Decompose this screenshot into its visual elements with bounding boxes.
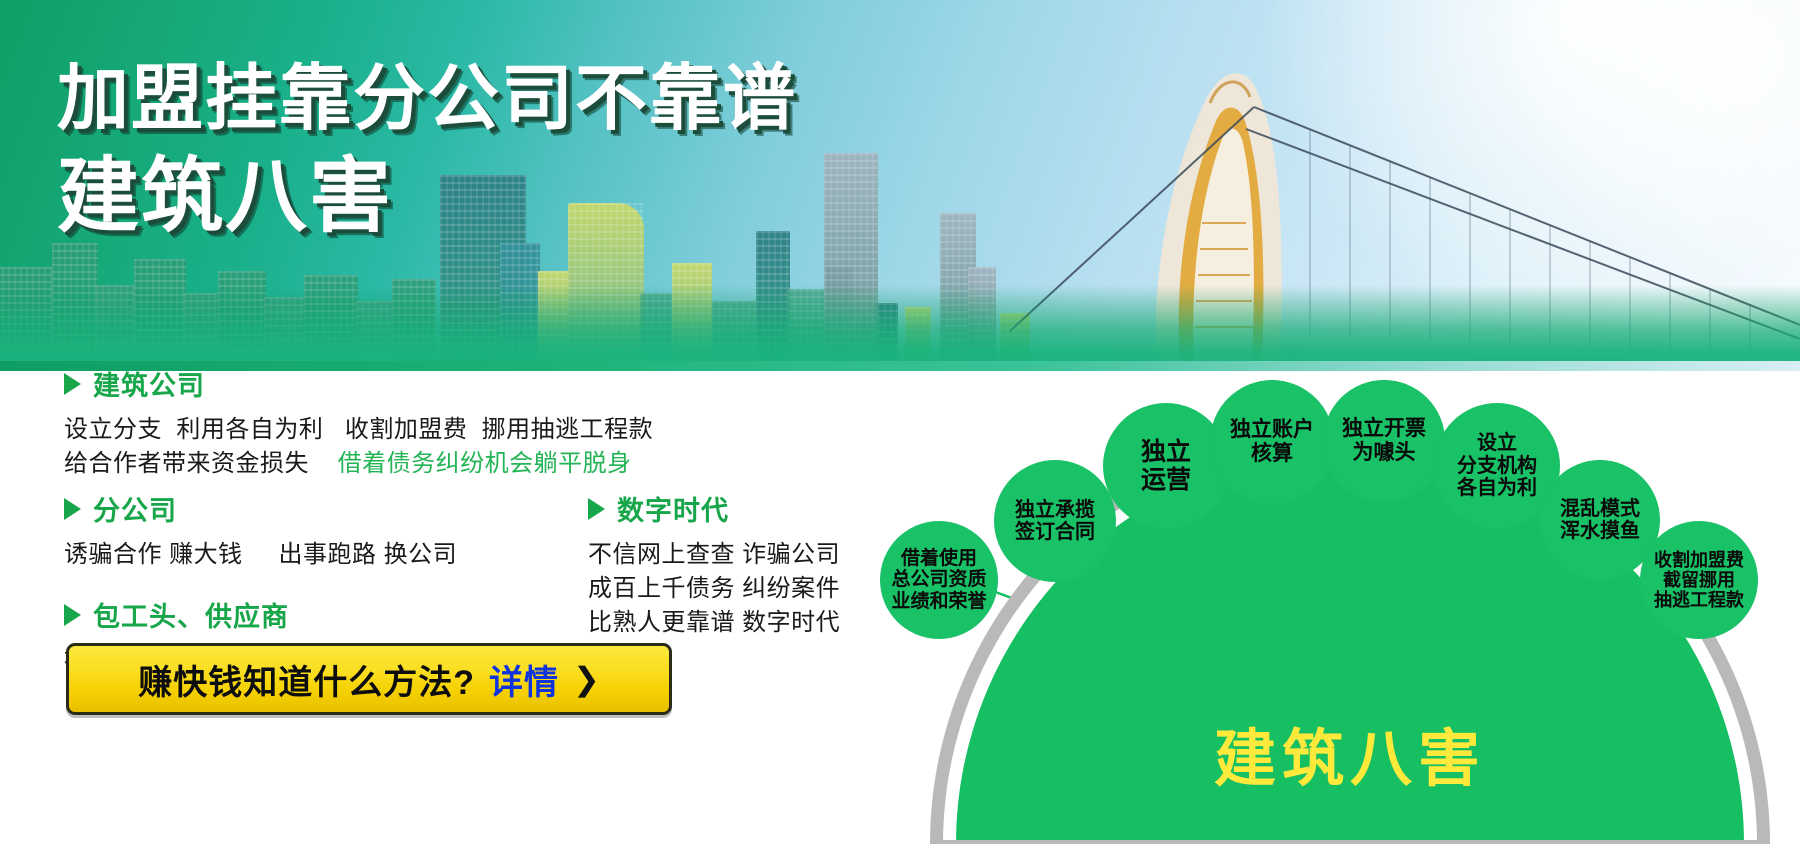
- bubble-line: 截留挪用: [1654, 570, 1744, 590]
- bubble-line: 抽逃工程款: [1654, 590, 1744, 610]
- hero-title-line2: 建筑八害: [57, 154, 797, 240]
- section-title: 数字时代: [617, 489, 729, 528]
- section-line: 诱骗合作 赚大钱 出事跑路 换公司: [64, 538, 457, 572]
- bubble-line: 收割加盟费: [1654, 550, 1744, 570]
- section-header: 建筑公司: [64, 364, 653, 403]
- left-content: 建筑公司 设立分支 利用各自为利 收割加盟费 挪用抽逃工程款 给合作者带来资金损…: [0, 371, 900, 844]
- hero-title: 加盟挂靠分公司不靠谱 建筑八害: [57, 62, 797, 240]
- bubble-b2[interactable]: 独立承揽 签订合同: [994, 460, 1116, 582]
- bubble-line: 混乱模式: [1560, 498, 1640, 520]
- cta-label: 赚快钱知道什么方法?: [138, 655, 475, 704]
- bubble-line: 分支机构: [1457, 455, 1537, 477]
- bubble-b4[interactable]: 独立账户 核算: [1210, 380, 1334, 504]
- section-header: 包工头、供应商: [64, 595, 460, 634]
- hero-title-line1: 加盟挂靠分公司不靠谱: [57, 62, 797, 138]
- dome-baseline: [930, 840, 1770, 844]
- triangle-right-icon: [588, 498, 605, 520]
- bubble-line: 设立: [1457, 432, 1537, 454]
- bubble-diagram: 建筑八害 借着使用 总公司资质 业绩和荣誉 独立承揽 签订合同 独立 运营 独立…: [900, 371, 1800, 844]
- section-line: 比熟人更靠谱 数字时代: [588, 606, 840, 640]
- section-construction-company: 建筑公司 设立分支 利用各自为利 收割加盟费 挪用抽逃工程款 给合作者带来资金损…: [64, 364, 653, 481]
- section-branch-company: 分公司 诱骗合作 赚大钱 出事跑路 换公司: [64, 489, 457, 572]
- dome-base: 建筑八害: [930, 581, 1770, 844]
- section-line: 设立分支 利用各自为利 收割加盟费 挪用抽逃工程款: [64, 413, 653, 447]
- section-line: 给合作者带来资金损失 借着债务纠纷机会躺平脱身: [64, 447, 653, 481]
- bubble-line: 独立承揽: [1015, 499, 1095, 521]
- section-line: 不信网上查查 诈骗公司: [588, 538, 840, 572]
- bubble-line: 独立开票: [1342, 417, 1426, 441]
- bubble-line: 运营: [1141, 466, 1191, 494]
- bubble-b3[interactable]: 独立 运营: [1103, 403, 1229, 529]
- section-line: 成百上千债务 纠纷案件: [588, 572, 840, 606]
- bubble-line: 独立账户: [1230, 418, 1314, 442]
- bubble-line: 为噱头: [1342, 441, 1426, 465]
- bubble-b8[interactable]: 收割加盟费 截留挪用 抽逃工程款: [1640, 521, 1758, 639]
- bubble-b5[interactable]: 独立开票 为噱头: [1323, 380, 1445, 502]
- section-header: 分公司: [64, 489, 457, 528]
- section-title: 建筑公司: [93, 364, 205, 403]
- bubble-line: 借着使用: [891, 548, 986, 569]
- triangle-right-icon: [64, 498, 81, 520]
- triangle-right-icon: [64, 604, 81, 626]
- bubble-line: 业绩和荣誉: [891, 591, 986, 612]
- cta-detail-link[interactable]: 详情: [489, 655, 559, 704]
- chevron-right-icon: ❯: [573, 660, 600, 698]
- section-header: 数字时代: [588, 489, 840, 528]
- bubble-line: 浑水摸鱼: [1560, 520, 1640, 542]
- hero-ground-fade: [0, 285, 1800, 371]
- section-line-highlight: 借着债务纠纷机会躺平脱身: [338, 450, 632, 477]
- bubble-line: 独立: [1141, 438, 1191, 466]
- poster-root: 加盟挂靠分公司不靠谱 建筑八害 建筑公司 设立分支 利用各自为利 收割加盟费 挪…: [0, 0, 1800, 844]
- bubble-b1[interactable]: 借着使用 总公司资质 业绩和荣誉: [880, 521, 998, 639]
- section-title: 分公司: [93, 489, 177, 528]
- section-line-text: 给合作者带来资金损失: [64, 450, 309, 477]
- section-title: 包工头、供应商: [93, 595, 289, 634]
- hero-banner: 加盟挂靠分公司不靠谱 建筑八害: [0, 0, 1800, 371]
- bubble-line: 总公司资质: [891, 569, 986, 590]
- cta-button[interactable]: 赚快钱知道什么方法? 详情 ❯: [66, 643, 672, 715]
- triangle-right-icon: [64, 373, 81, 395]
- dome-center-label: 建筑八害: [930, 708, 1770, 798]
- bubble-line: 各自为利: [1457, 477, 1537, 499]
- bubble-line: 核算: [1230, 442, 1314, 466]
- bubble-line: 签订合同: [1015, 521, 1095, 543]
- section-digital-era: 数字时代 不信网上查查 诈骗公司 成百上千债务 纠纷案件 比熟人更靠谱 数字时代: [588, 489, 840, 640]
